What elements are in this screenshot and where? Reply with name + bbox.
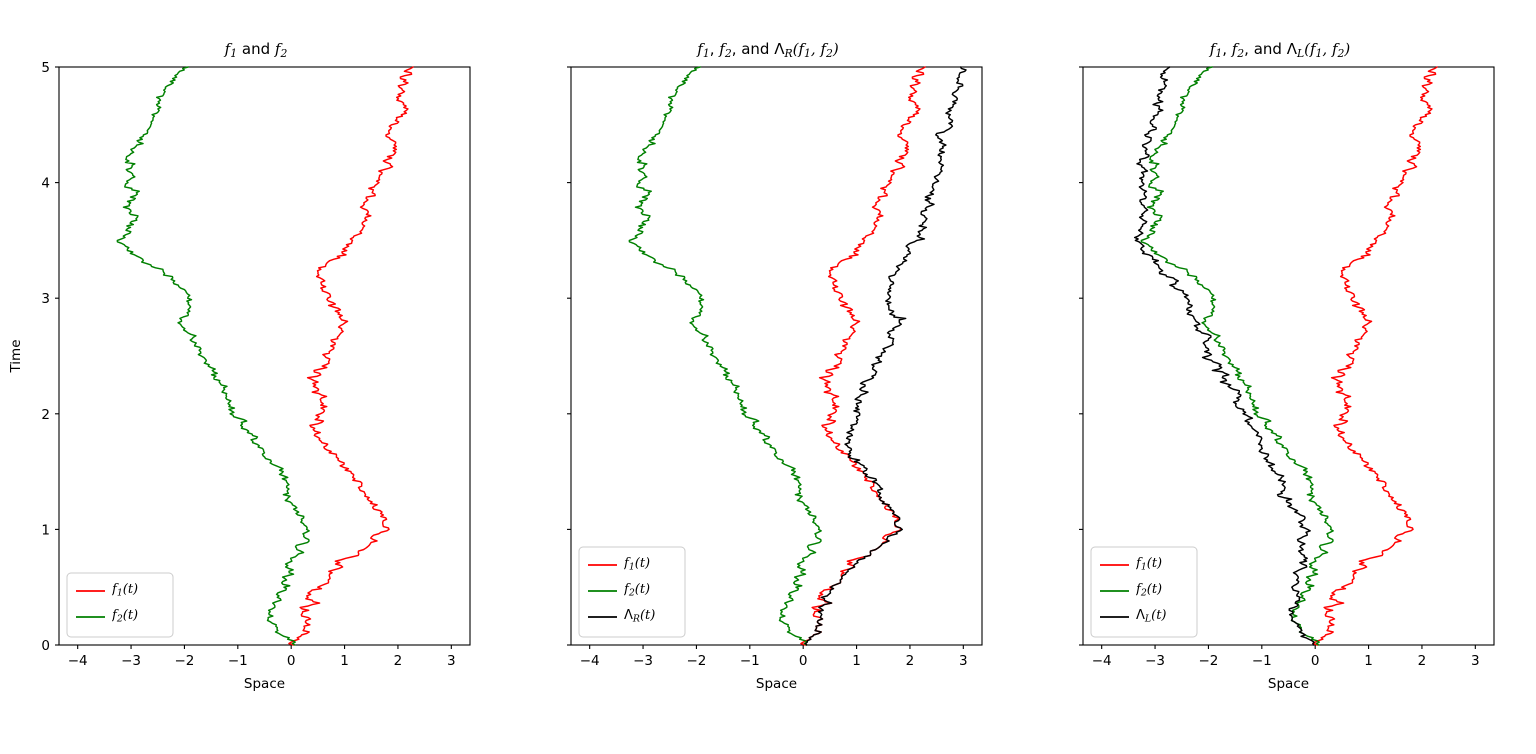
- y-tick-label: 0: [41, 638, 50, 654]
- x-tick-label: −3: [1145, 653, 1165, 669]
- axes-panel-2: −4−3−2−10123Spacef1(t)f2(t)ΛR(t): [512, 0, 1024, 754]
- x-tick-label: 3: [1471, 653, 1480, 669]
- x-tick-label: 1: [1364, 653, 1373, 669]
- y-axis: [1079, 67, 1083, 645]
- y-axis-label: Time: [8, 339, 24, 373]
- x-axis: −4−3−2−10123Space: [68, 645, 456, 692]
- y-tick-label: 5: [41, 60, 50, 76]
- y-tick-label: 2: [41, 407, 50, 423]
- legend-label-f1: f1(t): [1136, 553, 1194, 577]
- x-tick-label: −2: [1198, 653, 1218, 669]
- x-tick-label: 0: [287, 653, 296, 669]
- panel-f1-f2-lambdaR: f1, f2, and ΛR(f1, f2) −4−3−2−10123Space…: [512, 0, 1024, 754]
- legend-label-f1: f1(t): [112, 579, 170, 603]
- x-tick-label: −2: [686, 653, 706, 669]
- x-tick-label: −1: [740, 653, 760, 669]
- legend-label-f2: f2(t): [1136, 579, 1194, 603]
- y-tick-label: 3: [41, 291, 50, 307]
- x-tick-label: 0: [1311, 653, 1320, 669]
- series-line-f1: [289, 67, 413, 645]
- y-tick-label: 1: [41, 522, 50, 538]
- series-line-f1: [1313, 67, 1437, 645]
- x-tick-label: −4: [1092, 653, 1112, 669]
- x-tick-label: 2: [906, 653, 915, 669]
- legend-label-f2: f2(t): [112, 605, 170, 629]
- panel-f1-f2-lambdaL: f1, f2, and ΛL(f1, f2) −4−3−2−10123Space…: [1024, 0, 1536, 754]
- x-tick-label: −4: [580, 653, 600, 669]
- x-tick-label: −3: [121, 653, 141, 669]
- x-tick-label: 3: [447, 653, 456, 669]
- legend: f1(t)f2(t)ΛL(t): [1091, 547, 1197, 637]
- figure-canvas: f1 and f2 −4−3−2−10123Space012345Timef1(…: [0, 0, 1536, 754]
- x-tick-label: −4: [68, 653, 88, 669]
- x-axis-label: Space: [756, 676, 797, 692]
- x-tick-label: 2: [1418, 653, 1427, 669]
- y-axis: 012345Time: [8, 60, 59, 654]
- x-tick-label: 0: [799, 653, 808, 669]
- x-tick-label: 2: [394, 653, 403, 669]
- x-tick-label: −1: [1252, 653, 1272, 669]
- legend: f1(t)f2(t): [67, 573, 173, 637]
- x-tick-label: 3: [959, 653, 968, 669]
- x-axis: −4−3−2−10123Space: [580, 645, 968, 692]
- axes-frame: [59, 67, 470, 645]
- axes-panel-3: −4−3−2−10123Spacef1(t)f2(t)ΛL(t): [1024, 0, 1536, 754]
- y-axis: [567, 67, 571, 645]
- legend-label-lambdaR: ΛR(t): [624, 605, 682, 629]
- axes-panel-1: −4−3−2−10123Space012345Timef1(t)f2(t): [0, 0, 512, 754]
- x-axis: −4−3−2−10123Space: [1092, 645, 1480, 692]
- legend: f1(t)f2(t)ΛR(t): [579, 547, 685, 637]
- x-tick-label: −2: [174, 653, 194, 669]
- x-tick-label: 1: [852, 653, 861, 669]
- series-line-f2: [117, 67, 309, 645]
- panel-f1-f2: f1 and f2 −4−3−2−10123Space012345Timef1(…: [0, 0, 512, 754]
- legend-label-lambdaL: ΛL(t): [1136, 605, 1194, 629]
- y-tick-label: 4: [41, 176, 50, 192]
- series-line-lambdaR: [806, 67, 966, 645]
- x-axis-label: Space: [244, 676, 285, 692]
- x-tick-label: −1: [228, 653, 248, 669]
- legend-label-f2: f2(t): [624, 579, 682, 603]
- legend-label-f1: f1(t): [624, 553, 682, 577]
- x-axis-label: Space: [1268, 676, 1309, 692]
- x-tick-label: −3: [633, 653, 653, 669]
- x-tick-label: 1: [340, 653, 349, 669]
